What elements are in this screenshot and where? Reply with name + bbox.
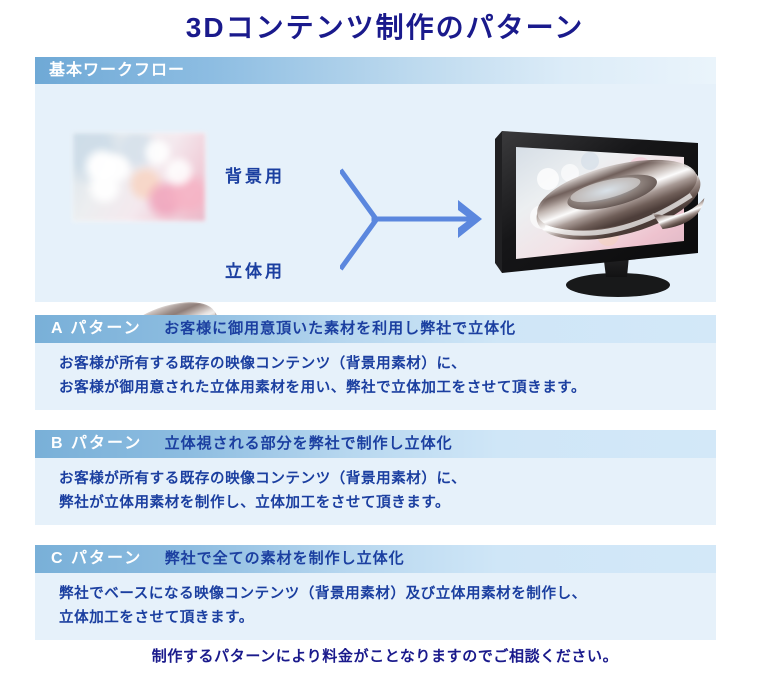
workflow-body: 背景用 立体用 [35,84,716,302]
merge-arrow-icon [340,164,485,274]
pattern-a-key: A パターン [51,320,142,337]
pattern-section-b: B パターン 立体視される部分を弊社で制作し立体化 お客様が所有する既存の映像コ… [35,430,716,525]
pattern-a-title: お客様に御用意頂いた素材を利用し弊社で立体化 [164,320,516,337]
pattern-a-line-2: お客様が御用意された立体用素材を用い、弊社で立体加工をさせて頂きます。 [59,376,716,400]
pattern-b-header: B パターン 立体視される部分を弊社で制作し立体化 [35,430,716,458]
pattern-b-body: お客様が所有する既存の映像コンテンツ（背景用素材）に、 弊社が立体用素材を制作し… [35,458,716,515]
pattern-c-line-1: 弊社でベースになる映像コンテンツ（背景用素材）及び立体用素材を制作し、 [59,582,716,606]
label-3d-material: 立体用 [225,257,285,282]
pattern-a-header: A パターン お客様に御用意頂いた素材を利用し弊社で立体化 [35,315,716,343]
pattern-c-body: 弊社でベースになる映像コンテンツ（背景用素材）及び立体用素材を制作し、 立体加工… [35,573,716,630]
pattern-b-title: 立体視される部分を弊社で制作し立体化 [165,435,453,452]
pattern-c-header: C パターン 弊社で全ての素材を制作し立体化 [35,545,716,573]
pattern-section-a: A パターン お客様に御用意頂いた素材を利用し弊社で立体化 お客様が所有する既存… [35,315,716,410]
pattern-a-body: お客様が所有する既存の映像コンテンツ（背景用素材）に、 お客様が御用意された立体… [35,343,716,400]
workflow-panel: 基本ワークフロー [35,57,716,302]
pattern-b-line-2: 弊社が立体用素材を制作し、立体加工をさせて頂きます。 [59,491,716,515]
pattern-section-c: C パターン 弊社で全ての素材を制作し立体化 弊社でベースになる映像コンテンツ（… [35,545,716,640]
workflow-header: 基本ワークフロー [35,57,716,84]
pattern-b-key: B パターン [51,435,142,452]
pattern-c-title: 弊社で全ての素材を制作し立体化 [165,550,405,567]
pattern-b-line-1: お客様が所有する既存の映像コンテンツ（背景用素材）に、 [59,467,716,491]
pattern-a-line-1: お客様が所有する既存の映像コンテンツ（背景用素材）に、 [59,352,716,376]
flat-screen-monitor-icon [490,117,730,302]
pattern-c-key: C パターン [51,550,142,567]
label-background-material: 背景用 [225,162,285,187]
footer-note: 制作するパターンにより料金がことなりますのでご相談ください。 [0,645,770,666]
pattern-c-line-2: 立体加工をさせて頂きます。 [59,606,716,630]
page-title: 3Dコンテンツ制作のパターン [0,0,770,48]
bokeh-photo [73,133,205,221]
